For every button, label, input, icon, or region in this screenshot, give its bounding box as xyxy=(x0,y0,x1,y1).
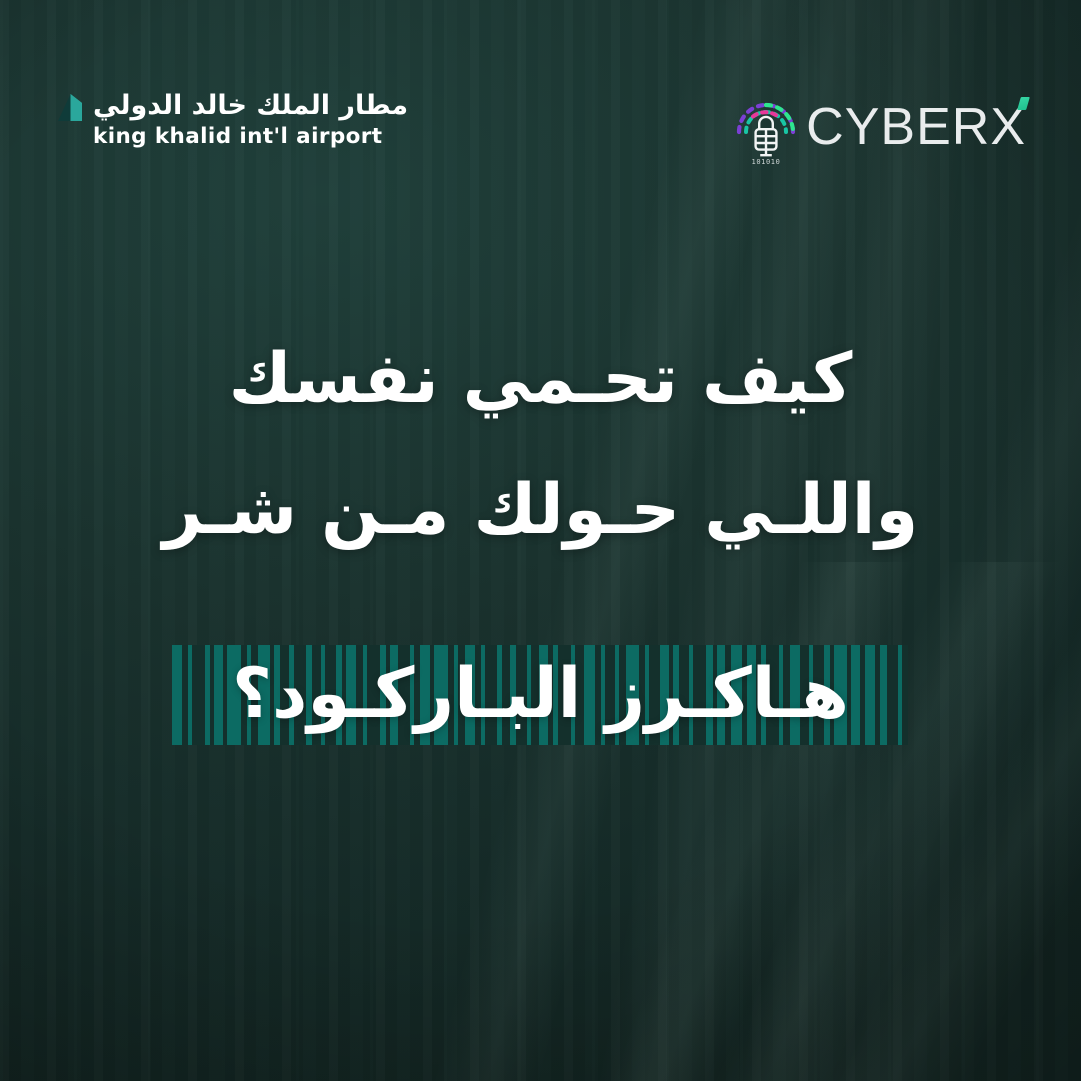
headline-line-2: واللـي حـولك مـن شـر xyxy=(0,476,1081,545)
cyberx-microphone-lock-icon: 101010 xyxy=(733,88,799,166)
cyberx-binary-caption: 101010 xyxy=(752,158,781,166)
poster-canvas: مطار الملك خالد الدولي king khalid int'l… xyxy=(0,0,1081,1081)
headline-line-3-holder: هـاكـرز البـاركـود؟ xyxy=(0,638,1081,750)
cyberx-wordmark-wrap: CYBERX xyxy=(806,101,1026,153)
airport-logo: مطار الملك خالد الدولي king khalid int'l… xyxy=(58,92,408,148)
airport-name-english: king khalid int'l airport xyxy=(93,126,408,148)
cyberx-logo: 101010 CYBERX xyxy=(733,88,1026,166)
cyberx-wordmark: CYBERX xyxy=(806,98,1026,156)
kkia-flag-mark-icon xyxy=(58,94,83,136)
headline-line-1: كيف تحـمي نفسك xyxy=(0,345,1081,414)
headline-block: كيف تحـمي نفسك واللـي حـولك مـن شـر xyxy=(0,345,1081,603)
headline-line-3: هـاكـرز البـاركـود؟ xyxy=(232,660,849,729)
airport-name-arabic: مطار الملك خالد الدولي xyxy=(93,92,408,119)
